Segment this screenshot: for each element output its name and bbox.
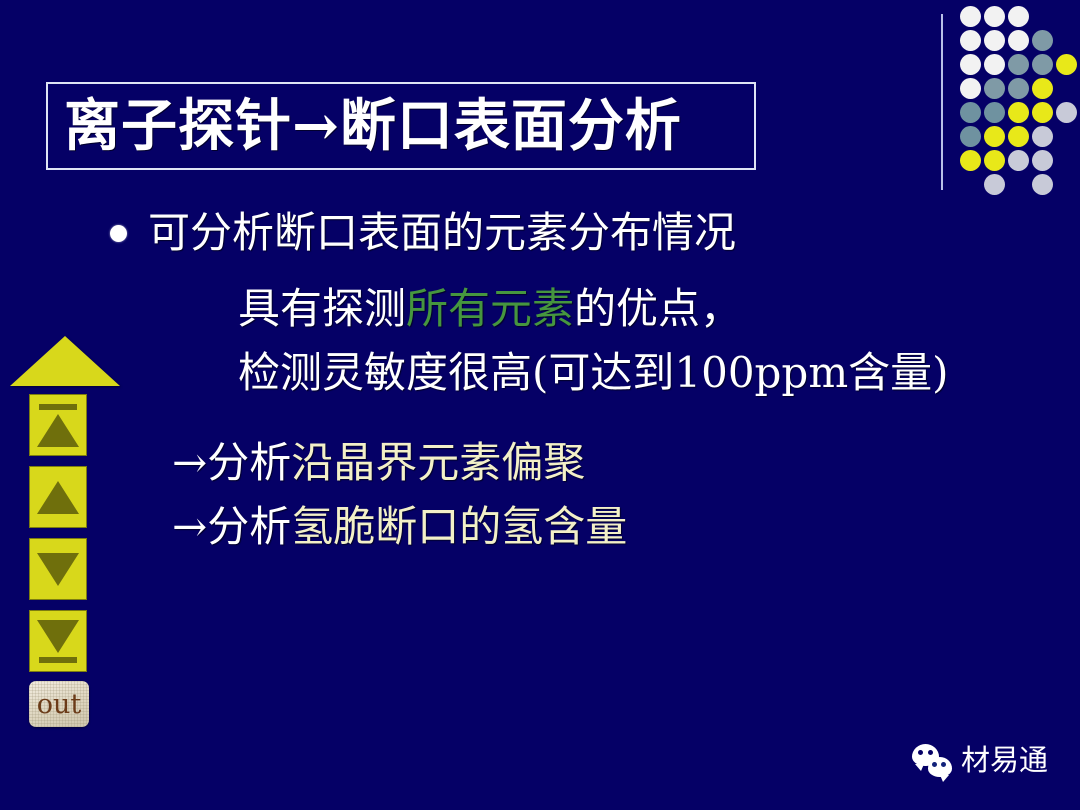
decorative-dot: [1008, 102, 1029, 123]
arrow-line-1-seg-2-highlight: 沿晶界元素偏聚: [291, 438, 585, 487]
decorative-dot: [960, 102, 981, 123]
sub-line-2: 检测灵敏度很高(可达到100ppm含量): [238, 352, 1010, 394]
decorative-dot: [960, 78, 981, 99]
decorative-dot: [1056, 54, 1077, 75]
decorative-dot: [1056, 102, 1077, 123]
decorative-dot: [984, 174, 1005, 195]
decorative-dot-grid: [960, 6, 1080, 186]
next-slide-button[interactable]: [29, 538, 87, 600]
arrow-line-2: →分析氢脆断口的氢含量: [172, 506, 1010, 548]
bullet-dot-icon: [110, 225, 127, 242]
decorative-dot: [960, 150, 981, 171]
decorative-dot: [960, 126, 981, 147]
decorative-dot: [984, 54, 1005, 75]
arrow-line-1: →分析沿晶界元素偏聚: [172, 442, 1010, 484]
decorative-dot: [1032, 30, 1053, 51]
decorative-dot: [960, 54, 981, 75]
bar-glyph: [39, 404, 77, 410]
decorative-dot: [1032, 102, 1053, 123]
bullet-item-label: 可分析断口表面的元素分布情况: [148, 212, 736, 254]
decorative-dot: [1008, 126, 1029, 147]
wechat-icon: [912, 744, 952, 777]
decorative-dot: [1032, 150, 1053, 171]
slide-canvas: 离子探针→断口表面分析 可分析断口表面的元素分布情况 具有探测所有元素的优点， …: [0, 0, 1080, 810]
decorative-dot: [960, 30, 981, 51]
arrow-line-1-seg-1: →分析: [172, 438, 291, 487]
decorative-vertical-rule: [941, 14, 943, 190]
watermark-label: 材易通: [961, 746, 1048, 775]
decorative-dot: [1008, 54, 1029, 75]
arrow-line-2-seg-2-highlight: 氢脆断口的氢含量: [291, 502, 627, 551]
decorative-dot: [984, 126, 1005, 147]
out-button[interactable]: out: [29, 681, 89, 727]
triangle-up-icon: [37, 414, 79, 447]
decorative-dot: [1032, 54, 1053, 75]
sub-line-1-seg-1: 具有探测: [238, 284, 406, 333]
decorative-dot: [960, 6, 981, 27]
sub-line-1-seg-3: 的优点，: [574, 284, 742, 333]
decorative-dot: [984, 102, 1005, 123]
decorative-dot: [984, 150, 1005, 171]
sub-line-2-seg-1: 检测灵敏度很高(可达到100ppm含量): [238, 348, 949, 397]
first-slide-button[interactable]: [29, 394, 87, 456]
decorative-dot: [1032, 126, 1053, 147]
triangle-up-icon: [37, 481, 79, 514]
triangle-down-icon: [37, 553, 79, 586]
last-slide-button[interactable]: [29, 610, 87, 672]
out-button-label: out: [37, 691, 82, 718]
previous-slide-button[interactable]: [29, 466, 87, 528]
arrow-line-2-seg-1: →分析: [172, 502, 291, 551]
bullet-item: 可分析断口表面的元素分布情况: [110, 205, 1010, 261]
decorative-dot: [1008, 30, 1029, 51]
large-up-arrow-icon[interactable]: [10, 336, 120, 386]
slide-body: 可分析断口表面的元素分布情况 具有探测所有元素的优点， 检测灵敏度很高(可达到1…: [110, 205, 1010, 548]
decorative-dot: [984, 30, 1005, 51]
decorative-dot: [984, 78, 1005, 99]
sub-line-1: 具有探测所有元素的优点，: [238, 288, 1010, 330]
decorative-dot: [984, 6, 1005, 27]
decorative-dot: [1008, 150, 1029, 171]
slide-title-box: 离子探针→断口表面分析: [46, 82, 756, 170]
watermark: 材易通: [912, 744, 1048, 777]
decorative-dot: [1008, 78, 1029, 99]
page-title: 离子探针→断口表面分析: [48, 98, 682, 154]
decorative-dot: [1032, 174, 1053, 195]
decorative-dot: [1032, 78, 1053, 99]
sub-line-1-seg-2-highlight: 所有元素: [406, 284, 574, 333]
decorative-dot: [1008, 6, 1029, 27]
bar-glyph: [39, 657, 77, 663]
triangle-down-icon: [37, 620, 79, 653]
